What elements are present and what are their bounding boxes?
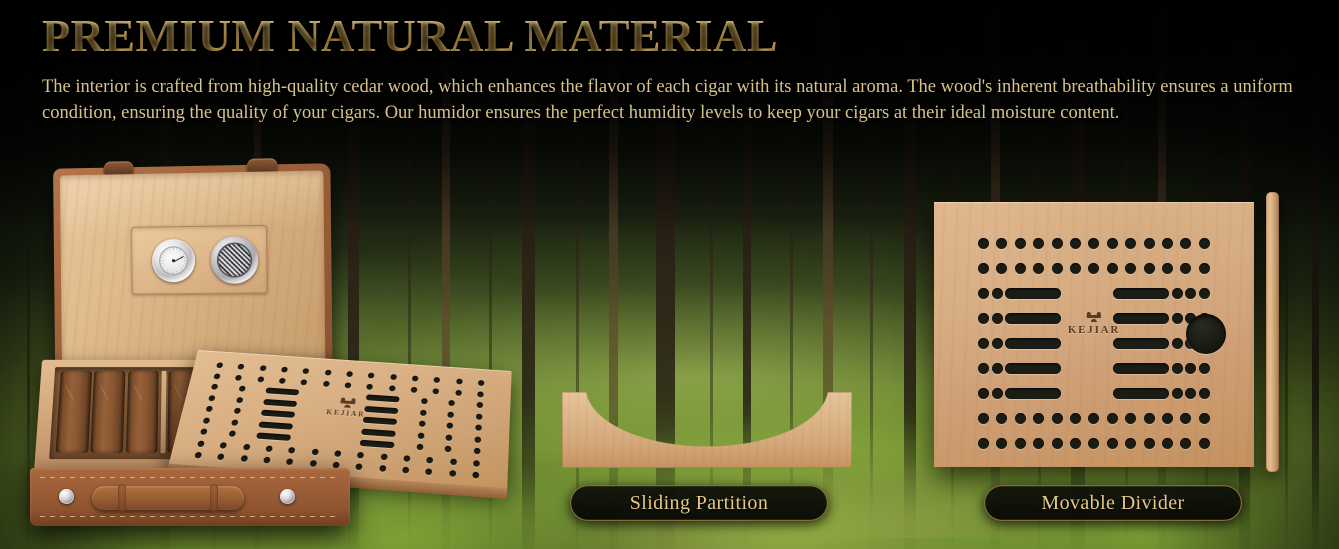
vent-hole (978, 438, 989, 449)
perforation-row (978, 388, 1210, 399)
vent-hole (344, 382, 351, 388)
vent-hole (1162, 263, 1173, 274)
vent-hole (473, 460, 480, 467)
vent-hole (1107, 263, 1118, 274)
spacer (316, 416, 341, 418)
vent-slot (261, 410, 296, 418)
vent-hole (475, 424, 482, 430)
vent-slot (263, 398, 297, 406)
perforation-row (978, 413, 1210, 424)
vent-hole (203, 417, 211, 423)
vent-hole (1185, 388, 1196, 399)
vent-hole (1185, 363, 1196, 374)
vent-hole (235, 374, 242, 380)
page-title: PREMIUM NATURAL MATERIAL (42, 10, 1312, 62)
perforation-row (978, 263, 1210, 274)
vent-hole (996, 263, 1007, 274)
vent-hole (288, 447, 296, 454)
vent-hole (1180, 438, 1191, 449)
vent-hole (1185, 288, 1196, 299)
vent-hole (1144, 238, 1155, 249)
vent-hole (411, 386, 418, 392)
vent-slot (360, 440, 395, 449)
perforation-row (978, 288, 1210, 299)
vent-hole (978, 288, 989, 299)
case-latch-left[interactable] (59, 489, 74, 504)
vent-hole (476, 413, 483, 419)
vent-hole (1015, 438, 1026, 449)
vent-hole (455, 389, 462, 395)
vent-hole (205, 406, 213, 412)
vent-hole (259, 365, 266, 371)
vent-hole (380, 453, 387, 460)
vent-hole (1199, 388, 1210, 399)
leather-stitching-bottom (40, 516, 340, 517)
vent-slot (1113, 338, 1169, 349)
vent-slot (1113, 388, 1169, 399)
vent-hole (1144, 413, 1155, 424)
lid-hinge-right (247, 158, 277, 172)
vent-hole (1180, 263, 1191, 274)
vent-hole (1052, 263, 1063, 274)
gauge-plaque (131, 225, 268, 295)
vent-hole (238, 364, 245, 370)
vent-hole (286, 458, 294, 465)
vent-hole (456, 379, 463, 385)
vent-hole (978, 413, 989, 424)
vent-hole (1172, 363, 1183, 374)
vent-hole (1125, 438, 1136, 449)
vent-hole (1052, 238, 1063, 249)
vent-hole (211, 384, 219, 390)
vent-hole (1088, 263, 1099, 274)
vent-hole (238, 386, 245, 392)
vent-hole (1144, 438, 1155, 449)
vent-hole (303, 368, 310, 374)
vent-hole (1125, 263, 1136, 274)
lid-hinge-left (104, 161, 134, 174)
vent-hole (992, 363, 1003, 374)
vent-hole (446, 434, 453, 441)
vent-hole (426, 456, 433, 463)
humidor-lid (53, 163, 332, 366)
vent-hole (996, 238, 1007, 249)
vent-slot (1005, 313, 1061, 324)
banner-header: PREMIUM NATURAL MATERIAL The interior is… (42, 10, 1312, 126)
vent-hole (257, 376, 264, 382)
vent-hole (434, 377, 441, 383)
sliding-partition-label: Sliding Partition (570, 485, 828, 521)
spacer (313, 439, 339, 441)
vent-hole (1088, 413, 1099, 424)
vent-hole (448, 411, 455, 417)
vent-hole (1033, 238, 1044, 249)
perforation-row (978, 438, 1210, 449)
vent-hole (1199, 438, 1210, 449)
wood-grain-texture (562, 392, 852, 468)
vent-hole (1144, 263, 1155, 274)
vent-hole (420, 409, 427, 415)
vent-hole (200, 428, 208, 434)
vent-hole (1052, 413, 1063, 424)
finger-hole[interactable] (1186, 314, 1226, 354)
label-text: Movable Divider (1041, 492, 1184, 515)
vent-hole (425, 468, 432, 475)
cigar (56, 371, 92, 453)
vent-slot (1005, 388, 1061, 399)
vent-hole (417, 432, 424, 439)
vent-hole (1199, 263, 1210, 274)
vent-hole (1052, 438, 1063, 449)
vent-hole (1088, 238, 1099, 249)
vent-slot (1005, 338, 1061, 349)
perforation-row (978, 363, 1210, 374)
vent-hole (311, 448, 318, 455)
vent-slot (1113, 363, 1169, 374)
vent-hole (1162, 413, 1173, 424)
vent-hole (1015, 263, 1026, 274)
vent-hole (978, 338, 989, 349)
movable-divider-label: Movable Divider (984, 485, 1242, 521)
hygrometer-icon (152, 239, 195, 282)
vent-hole (1125, 413, 1136, 424)
vent-hole (1107, 413, 1118, 424)
vent-slot (1113, 288, 1169, 299)
vent-hole (379, 465, 386, 472)
vent-slot (364, 405, 398, 413)
vent-hole (217, 454, 225, 461)
vent-hole (476, 402, 483, 408)
vent-hole (1199, 363, 1210, 374)
vent-hole (1070, 438, 1081, 449)
vent-hole (263, 457, 271, 464)
vent-hole (1172, 288, 1183, 299)
vent-hole (992, 338, 1003, 349)
label-text: Sliding Partition (630, 492, 768, 515)
cigar-row-left (56, 371, 160, 453)
vent-hole (368, 373, 375, 379)
vent-hole (334, 450, 341, 457)
vent-hole (1199, 238, 1210, 249)
vent-hole (1070, 263, 1081, 274)
vent-hole (996, 438, 1007, 449)
vent-hole (472, 472, 479, 479)
vent-hole (265, 445, 273, 452)
vent-slot (265, 387, 299, 395)
vent-hole (216, 362, 223, 368)
vent-hole (996, 413, 1007, 424)
banner-description: The interior is crafted from high-qualit… (42, 74, 1297, 127)
vent-hole (1180, 413, 1191, 424)
vent-hole (309, 460, 317, 467)
vent-hole (1199, 288, 1210, 299)
vent-hole (1033, 263, 1044, 274)
premium-material-banner: PREMIUM NATURAL MATERIAL The interior is… (0, 0, 1339, 549)
vent-hole (231, 419, 239, 425)
vent-hole (992, 288, 1003, 299)
tray-brand-mark: KEJIAR (326, 396, 368, 418)
vent-hole (1033, 438, 1044, 449)
vent-hole (390, 374, 397, 380)
vent-slot (1113, 313, 1169, 324)
vent-hole (474, 436, 481, 443)
vent-hole (301, 379, 308, 385)
movable-divider-product: KEJIAR (934, 202, 1279, 467)
vent-hole (233, 408, 241, 414)
vent-hole (323, 380, 330, 386)
vent-hole (978, 238, 989, 249)
vent-hole (992, 388, 1003, 399)
vent-hole (1033, 413, 1044, 424)
cigar (126, 371, 160, 453)
divider-panel-face: KEJIAR (934, 202, 1254, 467)
vent-hole (389, 385, 396, 391)
vent-hole (324, 370, 331, 376)
cigar (91, 371, 126, 453)
vent-hole (240, 455, 248, 462)
vent-hole (194, 452, 202, 459)
case-latch-right[interactable] (280, 489, 295, 504)
leather-stitching-top (40, 477, 340, 478)
vent-hole (1180, 238, 1191, 249)
vent-slot (361, 428, 396, 436)
vent-hole (433, 388, 440, 394)
vent-hole (402, 467, 409, 474)
vent-hole (477, 391, 484, 397)
vent-hole (1172, 388, 1183, 399)
vent-hole (208, 395, 216, 401)
humidifier-icon (211, 236, 259, 284)
vent-hole (281, 367, 288, 373)
perforation-row (978, 238, 1210, 249)
vent-hole (213, 373, 220, 379)
vent-hole (243, 443, 251, 450)
vent-hole (1172, 313, 1183, 324)
carry-handle[interactable] (92, 486, 244, 510)
vent-hole (1015, 413, 1026, 424)
vent-slot (1005, 288, 1061, 299)
vent-hole (1162, 438, 1173, 449)
vent-hole (449, 470, 456, 477)
vent-hole (1172, 338, 1183, 349)
brand-name: KEJIAR (1068, 324, 1120, 336)
vent-hole (279, 377, 286, 383)
vent-slot (1005, 363, 1061, 374)
vent-hole (478, 380, 485, 386)
vent-hole (220, 442, 228, 449)
vent-hole (450, 458, 457, 465)
crown-icon (1087, 312, 1101, 322)
vent-hole (978, 313, 989, 324)
leather-case-base (30, 468, 350, 526)
sliding-partition-board (562, 392, 852, 468)
vent-hole (197, 440, 205, 447)
cigar-row-divider (160, 371, 166, 453)
vent-hole (1162, 238, 1173, 249)
vent-slot (259, 421, 294, 429)
divider-brand-mark: KEJIAR (1068, 312, 1120, 336)
vent-hole (978, 363, 989, 374)
vent-hole (1107, 438, 1118, 449)
vent-hole (445, 446, 452, 453)
lid-cedar-interior (60, 170, 325, 362)
vent-hole (419, 421, 426, 427)
vent-hole (449, 400, 456, 406)
vent-hole (357, 451, 364, 458)
vent-hole (346, 371, 353, 377)
vent-hole (1070, 413, 1081, 424)
vent-hole (1070, 238, 1081, 249)
vent-hole (1107, 238, 1118, 249)
vent-slot (256, 432, 291, 440)
vent-hole (1125, 238, 1136, 249)
vent-hole (1015, 238, 1026, 249)
vent-hole (447, 423, 454, 429)
crown-icon (340, 397, 356, 408)
vent-hole (366, 383, 373, 389)
vent-hole (356, 463, 363, 470)
vent-hole (228, 430, 236, 437)
vent-hole (992, 313, 1003, 324)
vent-hole (412, 376, 419, 382)
vent-hole (978, 388, 989, 399)
divider-side-rail (1266, 192, 1279, 472)
vent-hole (403, 455, 410, 462)
vent-hole (1199, 413, 1210, 424)
spacer (315, 428, 340, 430)
vent-hole (978, 263, 989, 274)
perforation-row (978, 338, 1210, 349)
vent-slot (363, 417, 398, 425)
vent-hole (236, 397, 243, 403)
vent-hole (421, 398, 428, 404)
cedar-humidor-product: KEJIAR (30, 158, 500, 548)
vent-hole (416, 444, 423, 451)
vent-hole (474, 448, 481, 455)
vent-hole (1088, 438, 1099, 449)
vent-slot (366, 394, 400, 402)
